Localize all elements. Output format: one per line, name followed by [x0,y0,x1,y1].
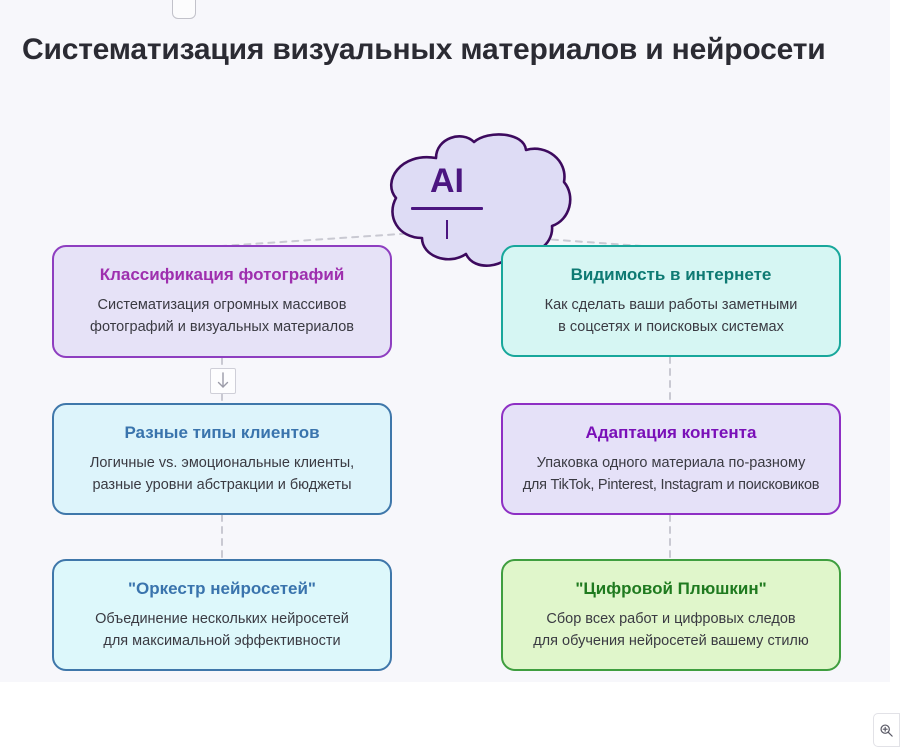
card-title: Адаптация контента [503,422,839,443]
card-title: "Оркестр нейросетей" [54,578,390,599]
card-description-line: Упаковка одного материала по-разному [503,453,839,475]
card-description: Как сделать ваши работы заметными в соцс… [503,295,839,339]
card-description-line: для максимальной эффективности [54,631,390,653]
card-description-line: Систематизация огромных массивов [54,295,390,317]
card-title: "Цифровой Плюшкин" [503,578,839,599]
card-digital-hoarder[interactable]: "Цифровой Плюшкин" Сбор всех работ и циф… [501,559,841,671]
card-description-line: в соцсетях и поисковых системах [503,317,839,339]
ai-hub-underline [411,207,483,210]
diagram-canvas[interactable]: Систематизация визуальных материалов и н… [0,0,890,682]
card-classification[interactable]: Классификация фотографий Систематизация … [52,245,392,358]
page-title: Систематизация визуальных материалов и н… [22,33,825,67]
card-description-line: Логичные vs. эмоциональные клиенты, [54,453,390,475]
card-description-line: Объединение нескольких нейросетей [54,609,390,631]
card-description: Упаковка одного материала по-разному для… [503,453,839,497]
card-title: Видимость в интернете [503,264,839,285]
card-description-line: разные уровни абстракции и бюджеты [54,475,390,497]
card-client-types[interactable]: Разные типы клиентов Логичные vs. эмоцио… [52,403,392,515]
card-title: Разные типы клиентов [54,422,390,443]
card-description: Объединение нескольких нейросетей для ма… [54,609,390,653]
zoom-in-icon [879,723,894,738]
card-description-line: Сбор всех работ и цифровых следов [503,609,839,631]
card-description: Сбор всех работ и цифровых следов для об… [503,609,839,653]
card-description-line: фотографий и визуальных материалов [54,317,390,339]
zoom-in-button[interactable] [873,713,900,747]
ai-hub-label: AI [378,162,516,201]
card-content-adaptation[interactable]: Адаптация контента Упаковка одного матер… [501,403,841,515]
card-title: Классификация фотографий [54,264,390,285]
connector-arrow-handle[interactable] [210,368,236,394]
card-visibility[interactable]: Видимость в интернете Как сделать ваши р… [501,245,841,357]
card-description: Систематизация огромных массивов фотогра… [54,295,390,339]
card-description: Логичные vs. эмоциональные клиенты, разн… [54,453,390,497]
cursor-artifact [172,0,196,19]
arrow-down-icon [211,369,235,393]
ai-hub-caret [446,220,448,239]
card-description-line: Как сделать ваши работы заметными [503,295,839,317]
card-description-line: для TikTok, Pinterest, Instagram и поиск… [503,475,839,497]
card-neural-orchestra[interactable]: "Оркестр нейросетей" Объединение несколь… [52,559,392,671]
card-description-line: для обучения нейросетей вашему стилю [503,631,839,653]
